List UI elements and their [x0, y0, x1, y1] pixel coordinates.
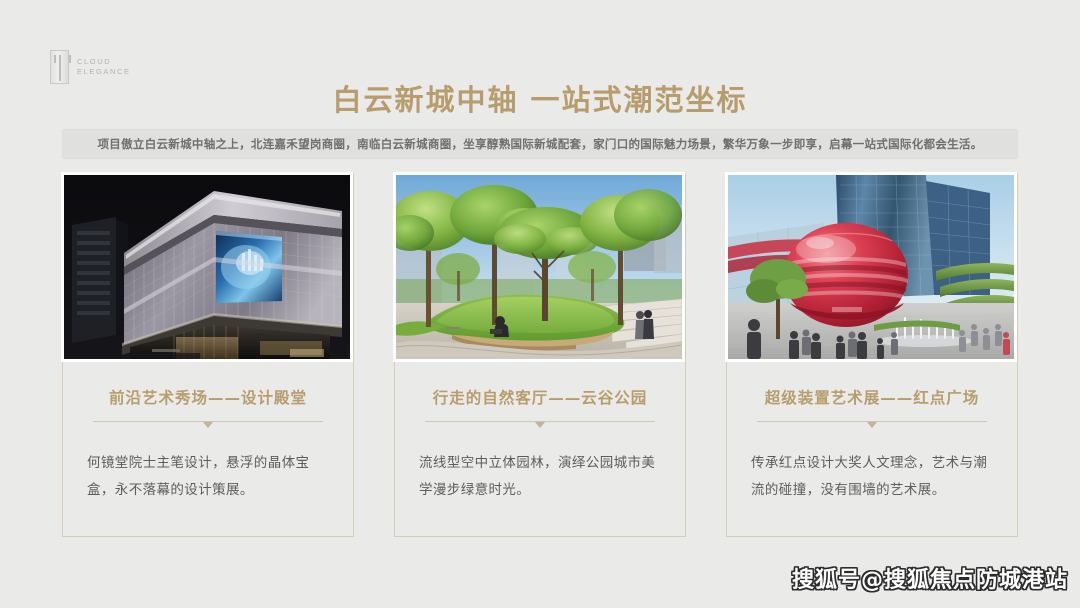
card-heading: 前沿艺术秀场——设计殿堂	[85, 386, 331, 408]
card-text: 流线型空中立体园林，演绎公园城市美学漫步绿意时光。	[417, 449, 663, 503]
card-text: 何镜堂院士主笔设计，悬浮的晶体宝盒，永不落幕的设计策展。	[85, 449, 331, 503]
card-text: 传承红点设计大奖人文理念，艺术与潮流的碰撞，没有围墙的艺术展。	[749, 449, 995, 503]
subtitle-band: 项目傲立白云新城中轴之上，北连嘉禾望岗商圈，南临白云新城商圈，坐享醇熟国际新城配…	[62, 129, 1018, 159]
slide-root: CLOUD ELEGANCE 白云新城中轴 一站式潮范坐标 项目傲立白云新城中轴…	[0, 0, 1080, 608]
feature-card[interactable]: 超级装置艺术展——红点广场 传承红点设计大奖人文理念，艺术与潮流的碰撞，没有围墙…	[726, 173, 1018, 537]
card-heading: 行走的自然客厅——云谷公园	[417, 386, 663, 408]
chevron-down-icon	[203, 422, 213, 428]
chevron-down-icon	[867, 422, 877, 428]
card-divider	[757, 421, 987, 429]
red-dot-plaza-illustration	[728, 175, 1014, 359]
card-image-design-hall	[64, 175, 350, 359]
card-photo-frame	[61, 172, 353, 362]
feature-card[interactable]: 行走的自然客厅——云谷公园 流线型空中立体园林，演绎公园城市美学漫步绿意时光。	[394, 173, 686, 537]
subtitle-text: 项目傲立白云新城中轴之上，北连嘉禾望岗商圈，南临白云新城商圈，坐享醇熟国际新城配…	[98, 136, 983, 152]
museum-night-illustration	[64, 175, 350, 359]
card-photo-frame	[725, 172, 1017, 362]
card-divider	[93, 421, 323, 429]
feature-card[interactable]: 前沿艺术秀场——设计殿堂 何镜堂院士主笔设计，悬浮的晶体宝盒，永不落幕的设计策展…	[62, 173, 354, 537]
card-body: 前沿艺术秀场——设计殿堂 何镜堂院士主笔设计，悬浮的晶体宝盒，永不落幕的设计策展…	[63, 370, 353, 503]
brand-line-2: ELEGANCE	[77, 67, 131, 77]
card-body: 行走的自然客厅——云谷公园 流线型空中立体园林，演绎公园城市美学漫步绿意时光。	[395, 370, 685, 503]
brand-logo-text: CLOUD ELEGANCE	[77, 57, 131, 77]
card-photo-frame	[393, 172, 685, 362]
card-image-cloud-valley-park	[396, 175, 682, 359]
watermark: 搜狐号@搜狐焦点防城港站	[792, 562, 1068, 594]
chevron-down-icon	[535, 422, 545, 428]
card-image-red-dot-plaza	[728, 175, 1014, 359]
feature-card-list: 前沿艺术秀场——设计殿堂 何镜堂院士主笔设计，悬浮的晶体宝盒，永不落幕的设计策展…	[62, 173, 1018, 537]
brand-line-1: CLOUD	[77, 57, 131, 67]
card-divider	[425, 421, 655, 429]
card-body: 超级装置艺术展——红点广场 传承红点设计大奖人文理念，艺术与潮流的碰撞，没有围墙…	[727, 370, 1017, 503]
park-illustration	[396, 175, 682, 359]
page-title: 白云新城中轴 一站式潮范坐标	[0, 77, 1080, 119]
card-heading: 超级装置艺术展——红点广场	[749, 386, 995, 408]
